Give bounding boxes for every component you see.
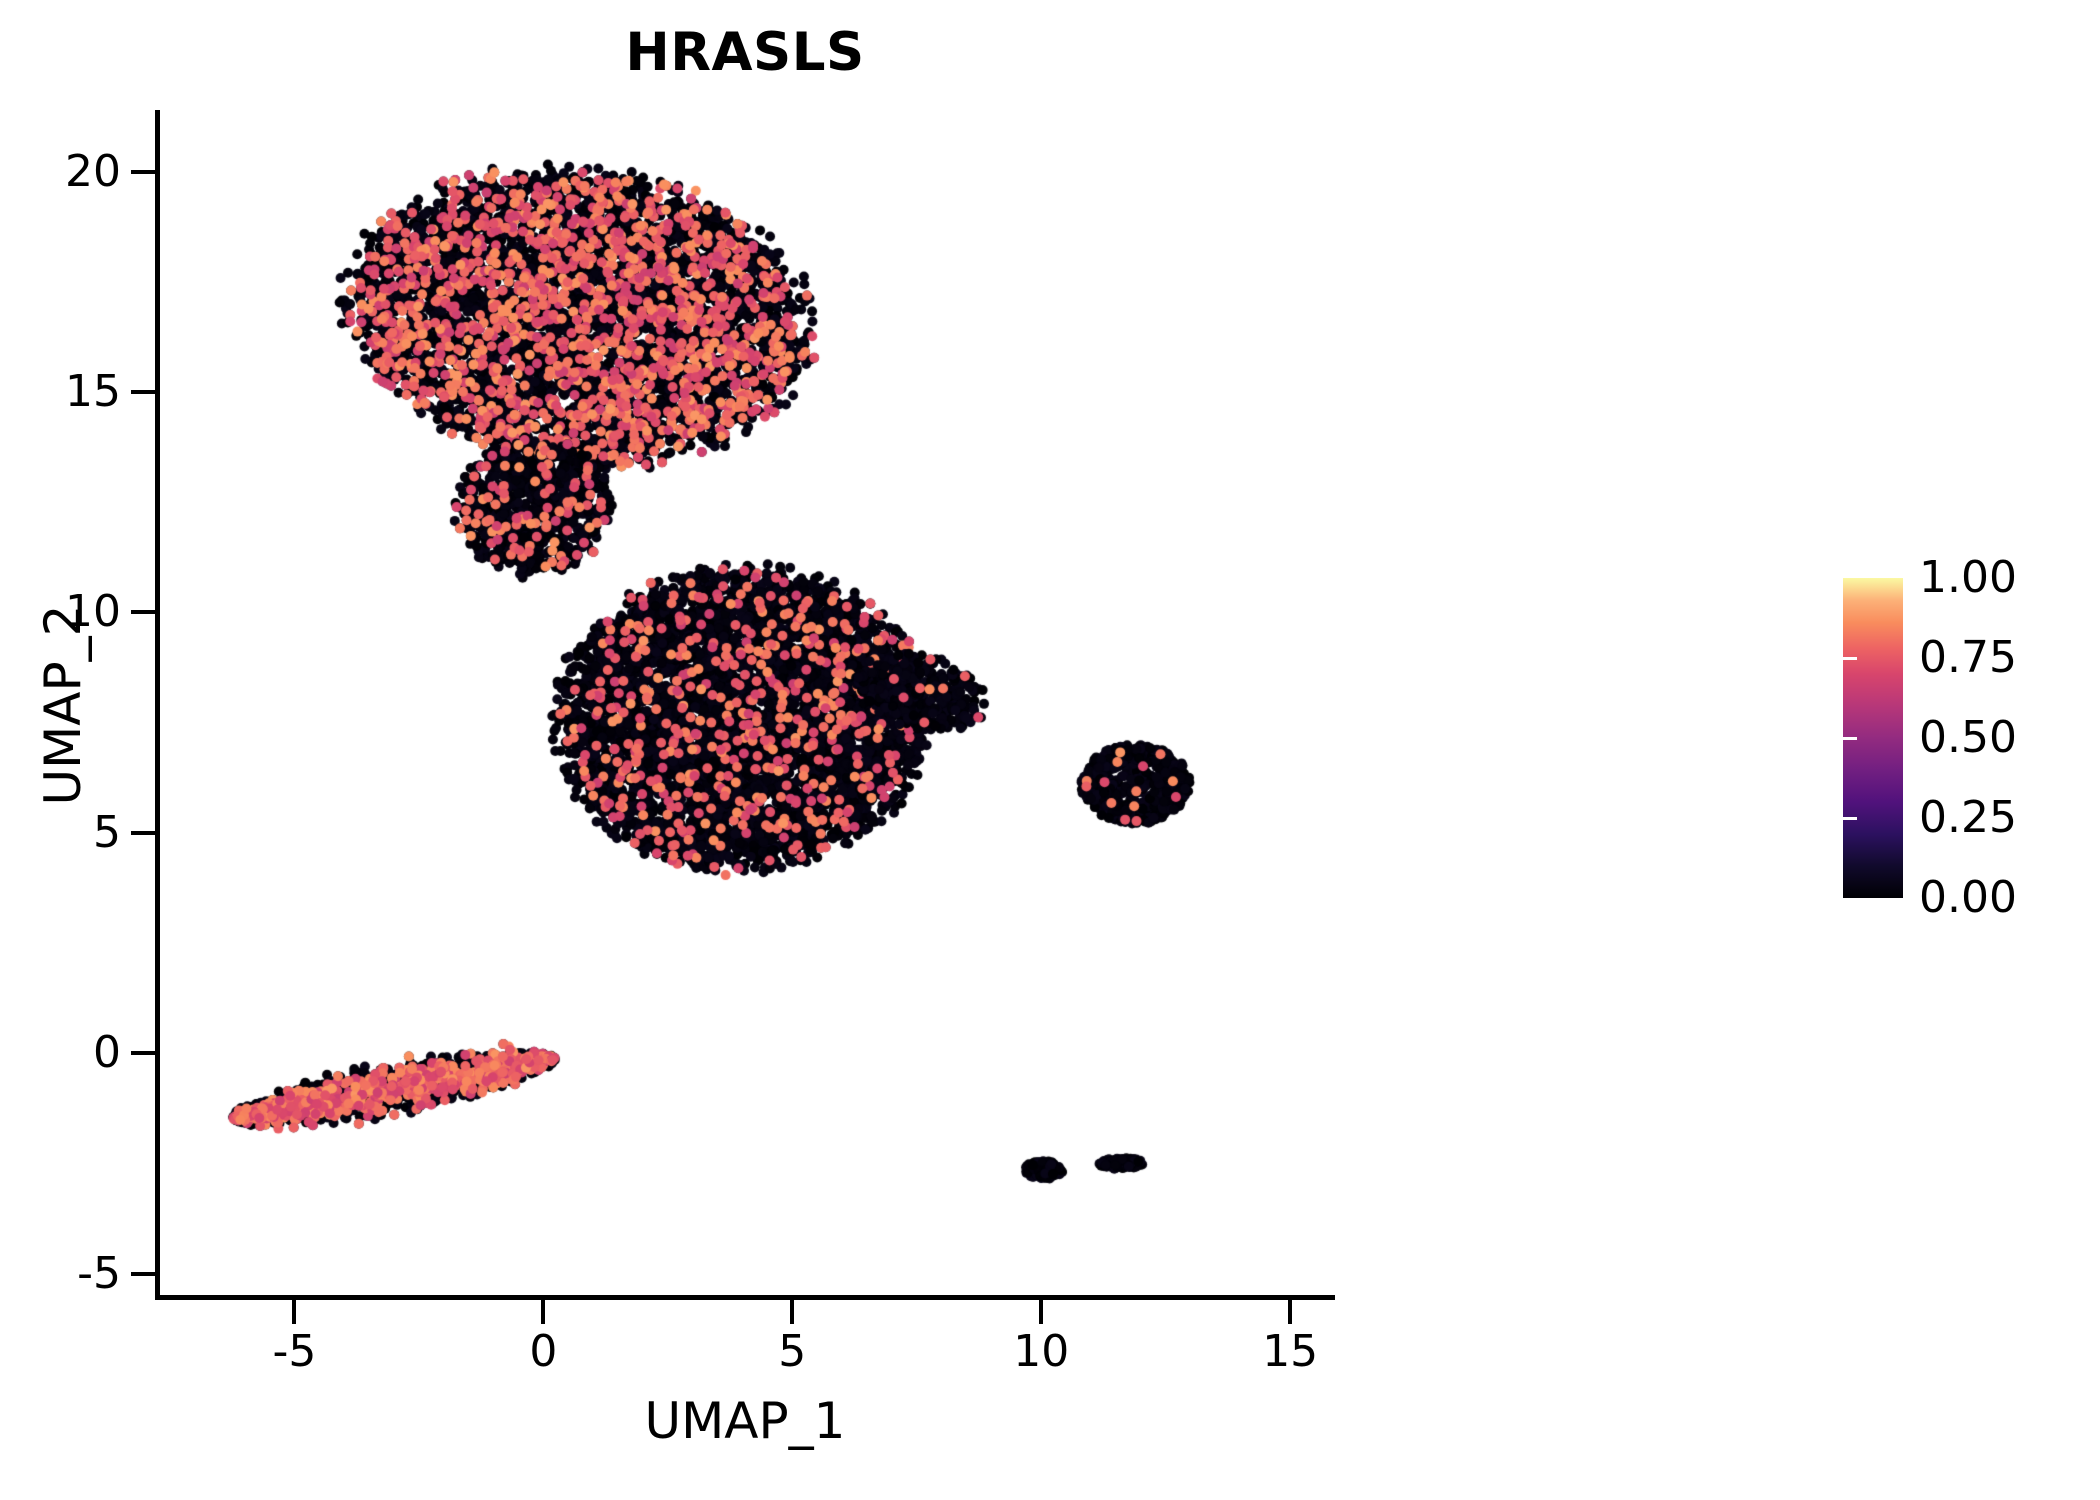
scatter-plot-area (155, 110, 1335, 1300)
y-tick-mark (131, 1272, 155, 1276)
x-axis-line (155, 1295, 1335, 1300)
y-tick-label: 5 (93, 811, 121, 855)
y-tick-mark (131, 1051, 155, 1055)
x-tick-label: 15 (1262, 1330, 1318, 1374)
x-tick-label: -5 (272, 1330, 316, 1374)
x-axis-label: UMAP_1 (645, 1392, 846, 1450)
x-tick-mark (1288, 1300, 1292, 1324)
colorbar-tick-label: 0.00 (1919, 876, 2017, 920)
y-tick-label: 0 (93, 1031, 121, 1075)
colorbar-tick-label: 0.25 (1919, 796, 2017, 840)
y-tick-mark (131, 831, 155, 835)
colorbar-tick-mark (1843, 817, 1857, 820)
y-tick-mark (131, 610, 155, 614)
x-tick-label: 0 (529, 1330, 557, 1374)
colorbar-tick-mark (2069, 657, 2083, 660)
colorbar-legend: 1.000.750.500.250.00 (1843, 578, 2083, 904)
x-tick-mark (790, 1300, 794, 1324)
x-tick-mark (541, 1300, 545, 1324)
x-tick-label: 10 (1013, 1330, 1069, 1374)
y-tick-mark (131, 170, 155, 174)
page-title: HRASLS (0, 22, 1490, 83)
y-tick-mark (131, 390, 155, 394)
colorbar-tick-label: 1.00 (1919, 556, 2017, 600)
colorbar-tick-mark (2069, 737, 2083, 740)
colorbar-tick-mark (1843, 657, 1857, 660)
x-tick-label: 5 (778, 1330, 806, 1374)
colorbar-tick-mark (2069, 817, 2083, 820)
x-tick-mark (1039, 1300, 1043, 1324)
y-tick-label: 15 (65, 370, 121, 414)
figure-canvas: HRASLS -505101520 -5051015 UMAP_2 UMAP_1… (0, 0, 2100, 1500)
y-axis-label: UMAP_2 (34, 605, 92, 806)
colorbar-tick-mark (1843, 737, 1857, 740)
y-tick-label: 20 (65, 150, 121, 194)
colorbar-tick-label: 0.50 (1919, 716, 2017, 760)
plot-axes: -505101520 -5051015 UMAP_2 UMAP_1 (155, 110, 1335, 1300)
y-tick-label: -5 (77, 1252, 121, 1296)
colorbar-tick-label: 0.75 (1919, 636, 2017, 680)
y-axis-line (155, 110, 160, 1300)
x-tick-mark (292, 1300, 296, 1324)
